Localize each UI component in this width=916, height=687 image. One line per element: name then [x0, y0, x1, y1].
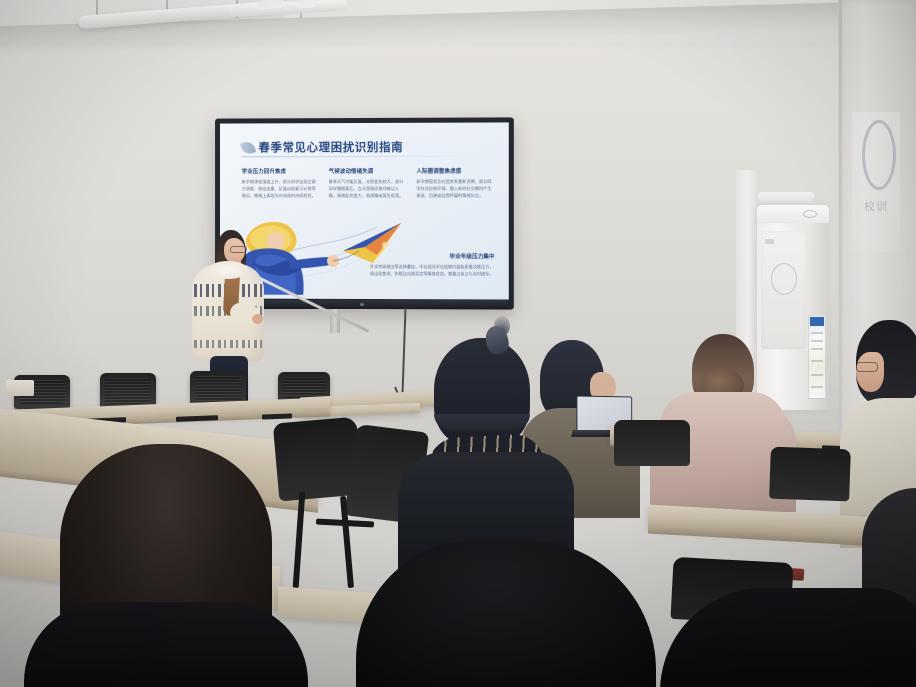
- paper-stack: [6, 380, 34, 396]
- light-cap-icon: [258, 0, 283, 10]
- footer-body: 升学考研就业等选择叠加，毕业班同学在短期内面临多重决策压力，易出现焦虑、失眠及自…: [370, 263, 495, 278]
- foreground-student-body: [24, 602, 308, 687]
- chair-mesh: [105, 378, 151, 404]
- footer-heading: 毕业年级压力集中: [370, 252, 495, 260]
- slide-footer-block: 毕业年级压力集中 升学考研就业等选择叠加，毕业班同学在短期内面临多重决策压力，易…: [370, 252, 495, 278]
- slide-title-divider: [242, 156, 474, 158]
- banner-emblem-icon: [862, 120, 896, 190]
- column-body: 新学期宿舍及社团关系重新洗牌，部分同学在适应新环境、融入新的社交圈时产生紧张、回…: [416, 177, 493, 198]
- label-line: [811, 360, 823, 362]
- slide-column: 人际圈调整焦虑感 新学期宿舍及社团关系重新洗牌，部分同学在适应新环境、融入新的社…: [416, 167, 493, 199]
- cardigan-hem-band: [194, 340, 262, 348]
- light-cap-icon: [296, 0, 317, 9]
- label-line: [811, 386, 823, 388]
- label-line: [811, 374, 823, 376]
- wall-banner: 校训: [852, 112, 900, 252]
- student-face: [856, 352, 884, 392]
- label-line: [811, 340, 823, 342]
- energy-label-header: [810, 317, 824, 326]
- column-body: 春季天气冷暖反复，光照变化较大，部分同学睡眠紊乱、白天困倦而夜间难以入睡，情绪起…: [329, 177, 406, 198]
- glasses-icon: [230, 246, 247, 253]
- chair[interactable]: [769, 447, 851, 502]
- slide-title-group: 春季常见心理困扰识别指南: [242, 139, 404, 155]
- desk-bracket: [262, 413, 292, 419]
- fur-collar: [208, 261, 248, 279]
- presenter-hand: [252, 314, 263, 324]
- column-heading: 学业压力回升焦虑: [242, 167, 318, 175]
- label-line: [811, 348, 823, 350]
- slide-column: 气候波动情绪失调 春季天气冷暖反复，光照变化较大，部分同学睡眠紊乱、白天困倦而夜…: [329, 167, 406, 199]
- column-heading: 气候波动情绪失调: [329, 167, 406, 175]
- ac-top-panel: [757, 205, 829, 223]
- ac-top-shelf: [758, 192, 814, 202]
- label-line: [811, 332, 823, 334]
- ac-vent-icon: [771, 263, 797, 295]
- slide-title: 春季常见心理困扰识别指南: [259, 139, 404, 155]
- slide-column: 学业压力回升焦虑 新学期课程强度上升，部分同学出现注意力涣散、拖延加重、反复纠结…: [242, 167, 318, 199]
- chair[interactable]: [614, 420, 690, 466]
- leaf-icon: [240, 139, 256, 155]
- glasses-icon: [856, 362, 878, 372]
- chair-mesh: [195, 376, 241, 404]
- classroom-scene: 校训 春季常见心理困扰识别指南: [0, 0, 916, 687]
- slide-columns: 学业压力回升焦虑 新学期课程强度上升，部分同学出现注意力涣散、拖延加重、反复纠结…: [242, 167, 494, 199]
- wall-seam: [839, 0, 842, 470]
- ac-display-icon: [765, 239, 774, 244]
- banner-text: 校训: [852, 198, 900, 214]
- power-indicator-icon: [360, 303, 364, 306]
- air-conditioner[interactable]: [757, 205, 829, 410]
- energy-label: [808, 315, 826, 399]
- column-heading: 人际圈调整焦虑感: [416, 167, 493, 175]
- column-body: 新学期课程强度上升，部分同学出现注意力涣散、拖延加重、反复纠结复习计划等情况，情…: [242, 178, 318, 199]
- ac-brand-logo-icon: [803, 210, 817, 218]
- beanie-brim: [434, 414, 530, 430]
